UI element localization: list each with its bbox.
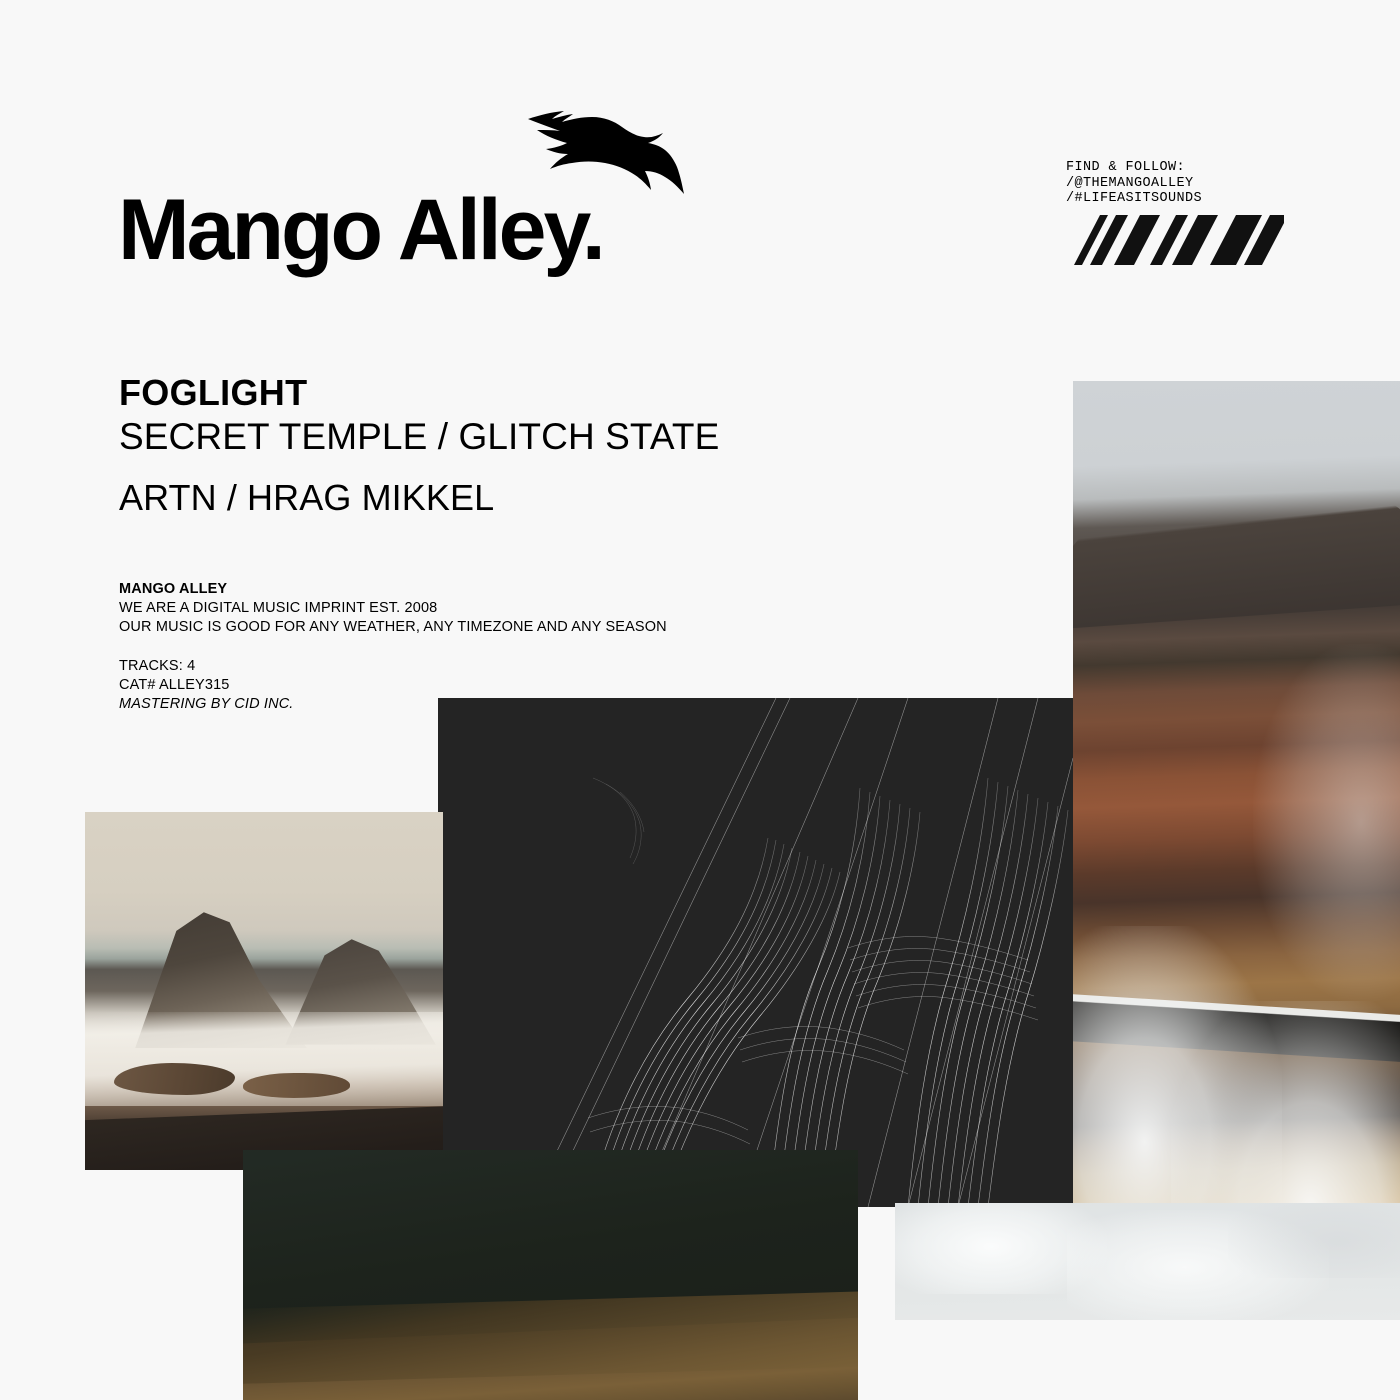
steam-fog-photo	[895, 1203, 1400, 1320]
imprint-name: MANGO ALLEY	[119, 580, 739, 599]
release-title-block: FOGLIGHT SECRET TEMPLE / GLITCH STATE AR…	[119, 372, 879, 520]
imprint-info-block: MANGO ALLEY WE ARE A DIGITAL MUSIC IMPRI…	[119, 580, 739, 714]
steam-puff-right	[1228, 1203, 1400, 1278]
imprint-tagline-2: OUR MUSIC IS GOOD FOR ANY WEATHER, ANY T…	[119, 618, 739, 637]
artist-names: ARTN / HRAG MIKKEL	[119, 476, 879, 520]
imprint-tagline-1: WE ARE A DIGITAL MUSIC IMPRINT EST. 2008	[119, 599, 739, 618]
meta-spacer	[119, 637, 739, 657]
album-cover: Mango Alley. FIND & FOLLOW: /@THEMANGOAL…	[0, 0, 1400, 1400]
snow-mountain-photo	[85, 812, 443, 1170]
rock-patch-left	[114, 1063, 236, 1095]
volcanic-landscape-photo	[1073, 381, 1400, 1320]
release-title: FOGLIGHT	[119, 372, 879, 414]
generative-filament-artwork	[438, 698, 1073, 1207]
ash-ridge-layer	[1073, 451, 1400, 629]
track-count: TRACKS: 4	[119, 657, 739, 676]
track-titles: SECRET TEMPLE / GLITCH STATE	[119, 414, 879, 460]
mastering-credit: MASTERING BY CID INC.	[119, 695, 739, 714]
catalog-number: CAT# ALLEY315	[119, 676, 739, 695]
dark-valley-photo	[243, 1150, 858, 1400]
